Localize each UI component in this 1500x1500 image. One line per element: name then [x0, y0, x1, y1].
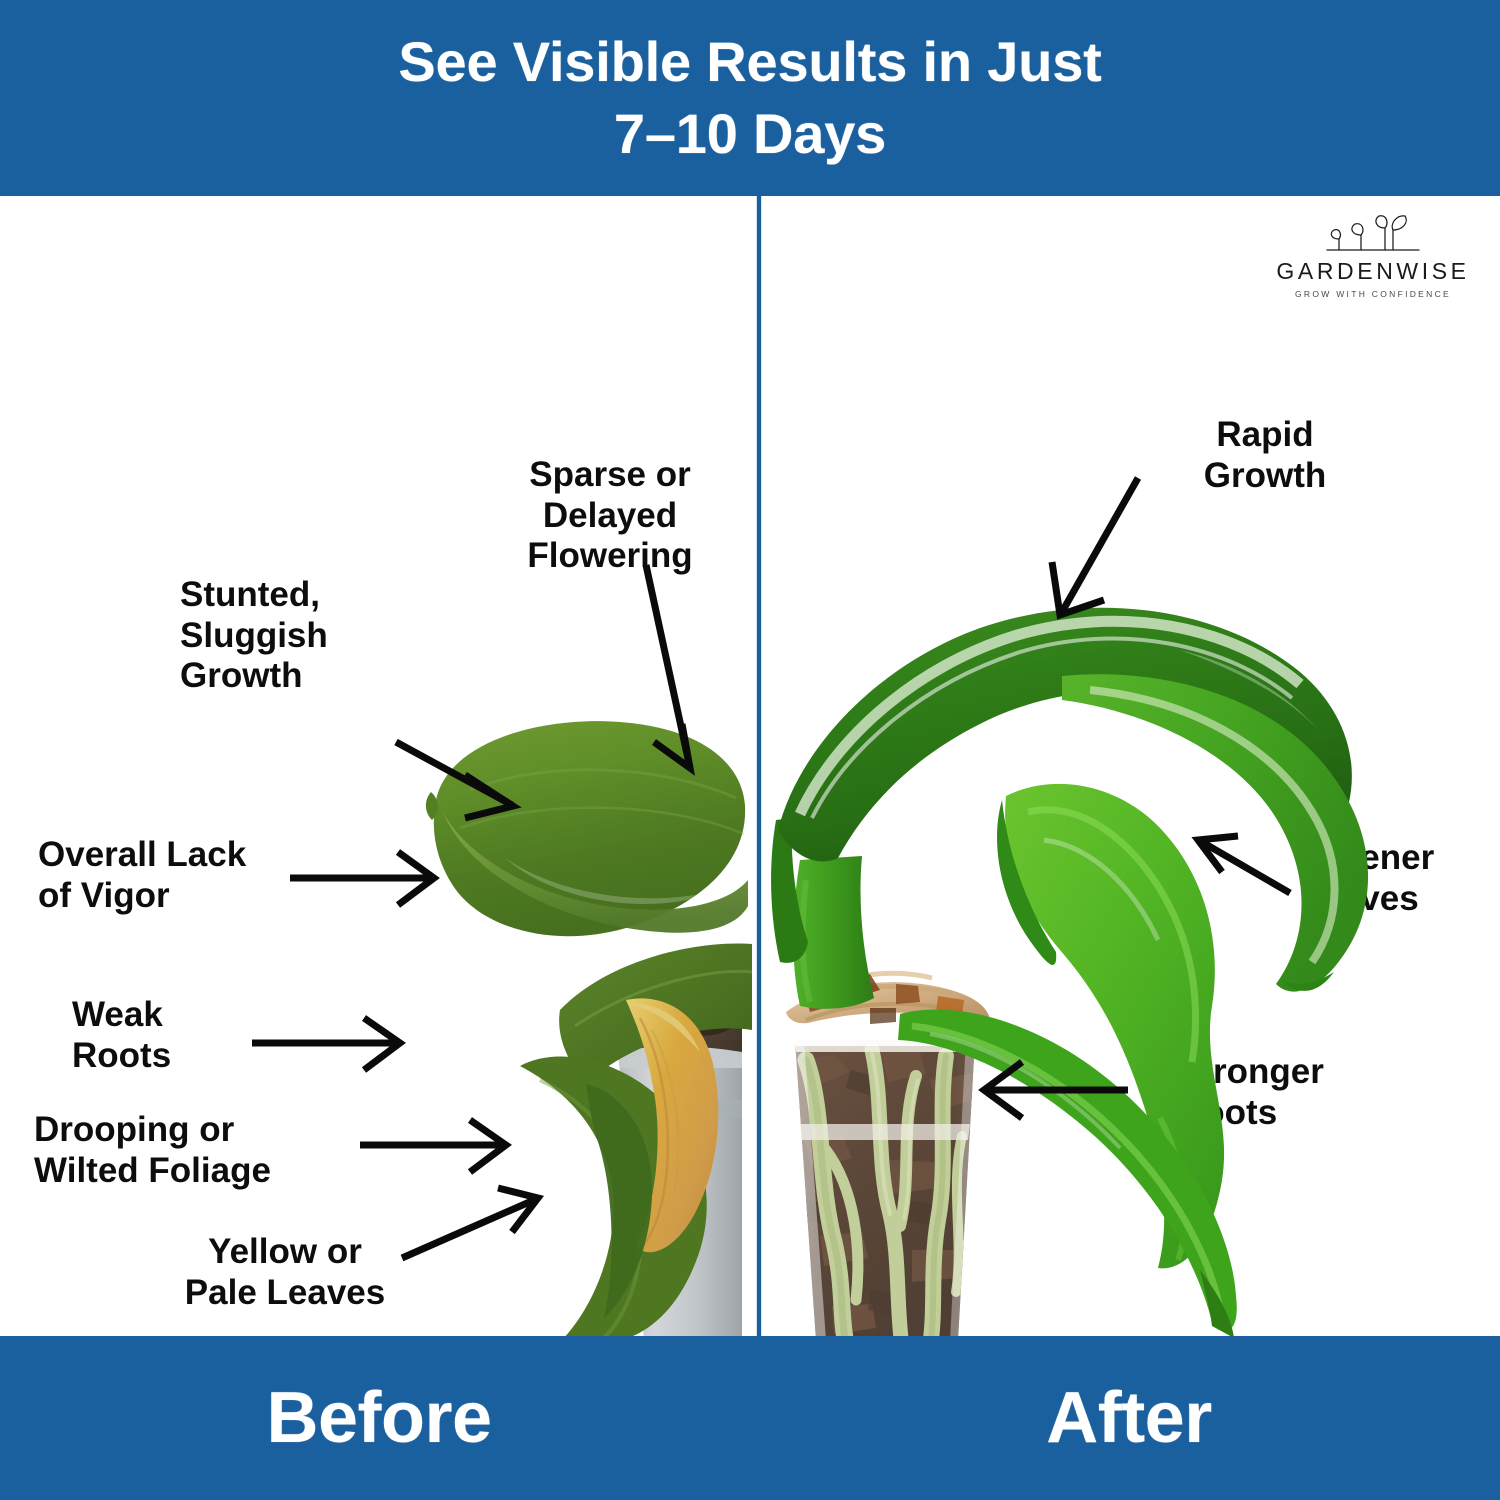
callout-drooping-wilted-foliage: Drooping or Wilted Foliage	[34, 1110, 364, 1191]
logo-wordmark: GARDENWISE	[1268, 260, 1478, 283]
footer-before-label: Before	[266, 1377, 491, 1459]
callout-yellow-pale-leaves: Yellow or Pale Leaves	[160, 1232, 410, 1313]
header-banner: See Visible Results in Just 7–10 Days	[0, 0, 1500, 196]
sprout-icon	[1317, 212, 1429, 256]
before-after-divider	[756, 196, 762, 1336]
callout-stunted-sluggish-growth: Stunted, Sluggish Growth	[180, 575, 410, 697]
infographic-root: See Visible Results in Just 7–10 Days	[0, 0, 1500, 1500]
callout-weak-roots: Weak Roots	[72, 995, 252, 1076]
footer-after-label: After	[1046, 1377, 1212, 1459]
footer-after-section: After	[758, 1336, 1500, 1500]
page-title: See Visible Results in Just 7–10 Days	[398, 26, 1101, 169]
callout-greener-leaves: Greener Leaves	[1300, 838, 1490, 919]
footer-before-section: Before	[0, 1336, 758, 1500]
callout-overall-lack-of-vigor: Overall Lack of Vigor	[38, 835, 318, 916]
panel-after	[762, 196, 1500, 1336]
callout-sparse-delayed-flowering: Sparse or Delayed Flowering	[490, 455, 730, 577]
callout-rapid-growth: Rapid Growth	[1175, 415, 1355, 496]
brand-logo: GARDENWISE GROW WITH CONFIDENCE	[1268, 212, 1478, 299]
logo-tagline: GROW WITH CONFIDENCE	[1268, 290, 1478, 299]
footer-banner: Before After	[0, 1336, 1500, 1500]
callout-stronger-roots: Stronger Roots	[1178, 1052, 1408, 1133]
